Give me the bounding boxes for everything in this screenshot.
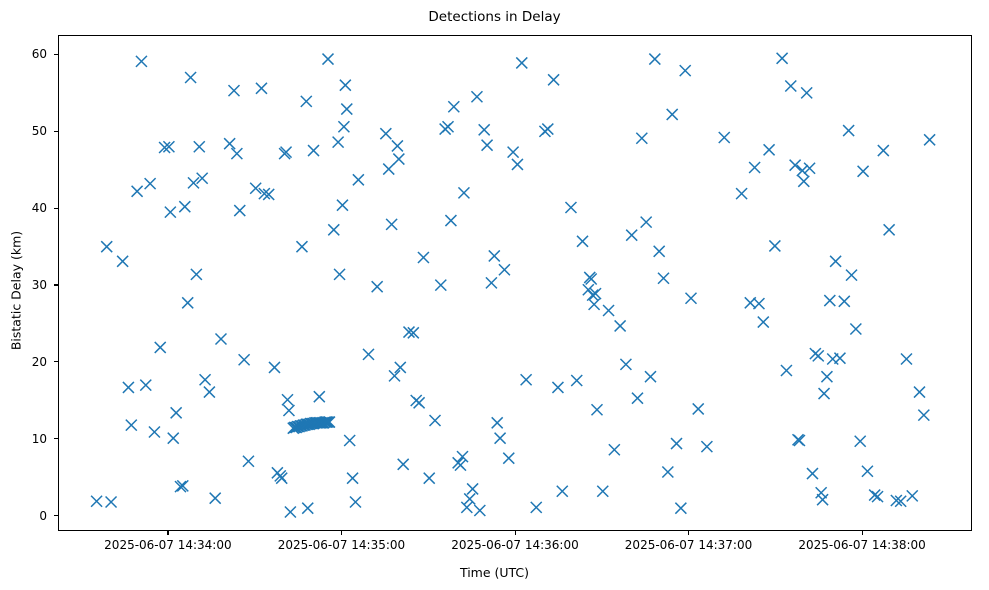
scatter-point xyxy=(819,388,830,399)
scatter-point xyxy=(393,154,404,165)
y-tick-mark xyxy=(54,361,58,362)
scatter-point xyxy=(685,293,696,304)
x-axis-label: Time (UTC) xyxy=(0,565,989,580)
scatter-point xyxy=(283,405,294,416)
scatter-point xyxy=(620,359,631,370)
scatter-point xyxy=(338,121,349,132)
scatter-point xyxy=(204,387,215,398)
scatter-point xyxy=(132,186,143,197)
scatter-point xyxy=(824,295,835,306)
scatter-point xyxy=(182,297,193,308)
scatter-point xyxy=(380,128,391,139)
scatter-point xyxy=(474,505,485,516)
scatter-point xyxy=(603,305,614,316)
scatter-point xyxy=(126,420,137,431)
scatter-point xyxy=(813,350,824,361)
scatter-point xyxy=(557,486,568,497)
scatter-point xyxy=(675,503,686,514)
x-tick-mark xyxy=(862,531,863,535)
scatter-point xyxy=(918,410,929,421)
scatter-point xyxy=(457,451,468,462)
scatter-point xyxy=(492,417,503,428)
scatter-point xyxy=(479,124,490,135)
scatter-point xyxy=(508,147,519,158)
scatter-point xyxy=(282,394,293,405)
y-axis-label: Bistatic Delay (km) xyxy=(9,43,24,539)
scatter-point xyxy=(798,176,809,187)
scatter-point xyxy=(671,438,682,449)
scatter-point xyxy=(106,497,117,508)
scatter-point xyxy=(185,72,196,83)
scatter-point xyxy=(239,354,250,365)
scatter-point xyxy=(91,496,102,507)
scatter-point xyxy=(749,162,760,173)
scatter-point xyxy=(609,444,620,455)
scatter-point xyxy=(210,493,221,504)
scatter-point xyxy=(215,333,226,344)
scatter-point xyxy=(769,240,780,251)
scatter-point xyxy=(719,132,730,143)
scatter-point xyxy=(328,224,339,235)
scatter-point xyxy=(443,121,454,132)
scatter-point xyxy=(234,205,245,216)
scatter-point xyxy=(314,391,325,402)
x-tick-mark xyxy=(515,531,516,535)
scatter-point xyxy=(907,490,918,501)
scatter-point xyxy=(914,387,925,398)
y-tick-mark xyxy=(54,54,58,55)
scatter-point xyxy=(389,370,400,381)
scatter-point xyxy=(435,280,446,291)
scatter-point xyxy=(383,164,394,175)
scatter-point xyxy=(884,224,895,235)
scatter-point xyxy=(850,323,861,334)
scatter-point xyxy=(834,353,845,364)
x-tick-mark xyxy=(167,531,168,535)
scatter-point xyxy=(350,497,361,508)
y-tick-mark xyxy=(54,438,58,439)
scatter-point xyxy=(830,256,841,267)
scatter-point xyxy=(512,159,523,170)
scatter-point xyxy=(855,436,866,447)
scatter-point xyxy=(424,473,435,484)
scatter-point xyxy=(552,382,563,393)
scatter-point xyxy=(521,374,532,385)
scatter-point xyxy=(495,433,506,444)
scatter-point xyxy=(499,264,510,275)
scatter-point xyxy=(445,215,456,226)
scatter-point xyxy=(243,456,254,467)
scatter-point xyxy=(807,468,818,479)
scatter-point xyxy=(597,486,608,497)
scatter-point xyxy=(531,502,542,513)
scatter-markers xyxy=(59,36,972,531)
scatter-point xyxy=(155,342,166,353)
scatter-point xyxy=(790,160,801,171)
scatter-point xyxy=(785,80,796,91)
scatter-point xyxy=(302,503,313,514)
scatter-point xyxy=(680,65,691,76)
scatter-point xyxy=(231,148,242,159)
scatter-point xyxy=(878,145,889,156)
scatter-point xyxy=(516,57,527,68)
scatter-point xyxy=(344,435,355,446)
scatter-point xyxy=(200,374,211,385)
x-tick-label: 2025-06-07 14:37:00 xyxy=(589,539,789,551)
scatter-point xyxy=(458,187,469,198)
scatter-point xyxy=(626,230,637,241)
scatter-point xyxy=(168,433,179,444)
scatter-point xyxy=(353,174,364,185)
scatter-point xyxy=(418,252,429,263)
scatter-point xyxy=(693,403,704,414)
scatter-point xyxy=(461,502,472,513)
scatter-point xyxy=(256,83,267,94)
scatter-point xyxy=(340,80,351,91)
scatter-point xyxy=(341,104,352,115)
scatter-point xyxy=(482,140,493,151)
scatter-point xyxy=(285,507,296,518)
scatter-point xyxy=(858,166,869,177)
scatter-point xyxy=(503,453,514,464)
scatter-point xyxy=(901,353,912,364)
scatter-point xyxy=(140,380,151,391)
scatter-point xyxy=(486,277,497,288)
scatter-point xyxy=(589,299,600,310)
scatter-point xyxy=(347,473,358,484)
scatter-point xyxy=(386,219,397,230)
scatter-point xyxy=(817,494,828,505)
scatter-point xyxy=(171,407,182,418)
scatter-point xyxy=(801,87,812,98)
scatter-point xyxy=(392,140,403,151)
scatter-point xyxy=(701,441,712,452)
scatter-point xyxy=(839,296,850,307)
scatter-point xyxy=(615,320,626,331)
scatter-point xyxy=(846,270,857,281)
scatter-point xyxy=(821,371,832,382)
scatter-point xyxy=(101,241,112,252)
scatter-point xyxy=(149,427,160,438)
x-tick-mark xyxy=(688,531,689,535)
scatter-point xyxy=(636,133,647,144)
scatter-point xyxy=(372,281,383,292)
scatter-point xyxy=(667,109,678,120)
y-tick-mark xyxy=(54,131,58,132)
scatter-point xyxy=(654,246,665,257)
scatter-point xyxy=(632,393,643,404)
y-tick-mark xyxy=(54,208,58,209)
scatter-point xyxy=(414,397,425,408)
scatter-point xyxy=(165,207,176,218)
x-tick-label: 2025-06-07 14:35:00 xyxy=(241,539,441,551)
scatter-point xyxy=(467,483,478,494)
scatter-point xyxy=(464,493,475,504)
scatter-point xyxy=(123,382,134,393)
scatter-point xyxy=(658,273,669,284)
scatter-point xyxy=(322,54,333,65)
x-tick-label: 2025-06-07 14:36:00 xyxy=(415,539,615,551)
y-tick-mark xyxy=(54,284,58,285)
scatter-point xyxy=(179,201,190,212)
page-title: Detections in Delay xyxy=(0,9,989,25)
scatter-point xyxy=(753,298,764,309)
scatter-point xyxy=(333,137,344,148)
scatter-point xyxy=(308,145,319,156)
scatter-point xyxy=(296,241,307,252)
scatter-point xyxy=(301,96,312,107)
scatter-point xyxy=(337,200,348,211)
scatter-point xyxy=(797,165,808,176)
y-tick-mark xyxy=(54,515,58,516)
scatter-point xyxy=(794,435,805,446)
scatter-point xyxy=(804,163,815,174)
scatter-point xyxy=(571,375,582,386)
scatter-point xyxy=(430,415,441,426)
scatter-point xyxy=(194,141,205,152)
scatter-point xyxy=(591,404,602,415)
scatter-point xyxy=(398,459,409,470)
scatter-plot-figure: Detections in Delay 0102030405060 2025-0… xyxy=(0,0,989,590)
x-tick-mark xyxy=(341,531,342,535)
scatter-point xyxy=(542,124,553,135)
scatter-point xyxy=(548,74,559,85)
scatter-point xyxy=(117,256,128,267)
scatter-point xyxy=(363,349,374,360)
scatter-point xyxy=(641,217,652,228)
scatter-point xyxy=(395,362,406,373)
scatter-point xyxy=(228,85,239,96)
scatter-point xyxy=(843,125,854,136)
scatter-point xyxy=(777,53,788,64)
scatter-point xyxy=(924,134,935,145)
scatter-point xyxy=(764,144,775,155)
scatter-point xyxy=(269,362,280,373)
plot-area xyxy=(58,35,972,531)
x-tick-label: 2025-06-07 14:38:00 xyxy=(762,539,962,551)
scatter-point xyxy=(781,365,792,376)
scatter-point xyxy=(649,54,660,65)
scatter-point xyxy=(191,269,202,280)
scatter-point xyxy=(448,101,459,112)
scatter-point xyxy=(565,202,576,213)
scatter-point xyxy=(862,466,873,477)
scatter-point xyxy=(489,250,500,261)
scatter-point xyxy=(136,56,147,67)
scatter-point xyxy=(224,138,235,149)
scatter-point xyxy=(645,371,656,382)
scatter-point xyxy=(662,467,673,478)
scatter-point xyxy=(577,236,588,247)
x-tick-label: 2025-06-07 14:34:00 xyxy=(68,539,268,551)
scatter-point xyxy=(758,317,769,328)
scatter-point xyxy=(334,269,345,280)
scatter-point xyxy=(471,91,482,102)
scatter-point xyxy=(736,188,747,199)
scatter-point xyxy=(145,178,156,189)
